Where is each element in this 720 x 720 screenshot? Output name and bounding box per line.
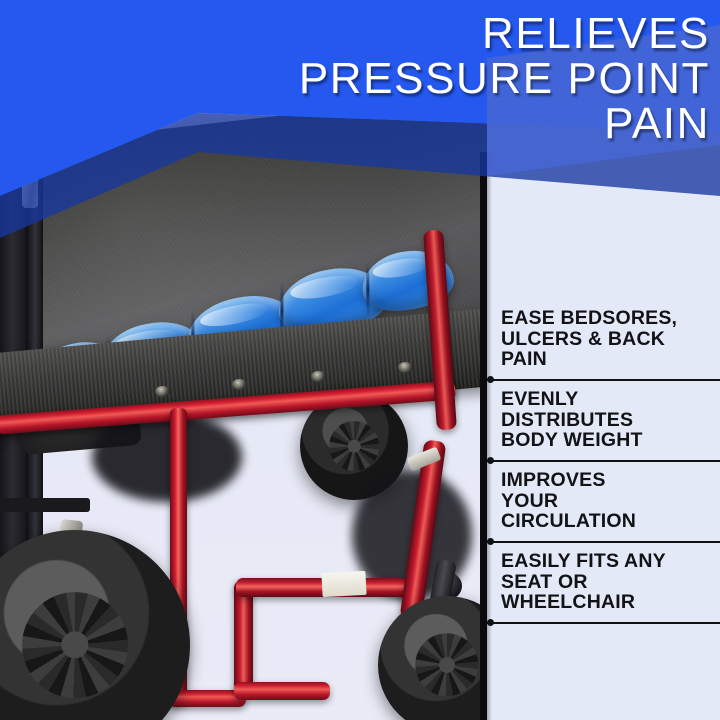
benefit-divider [487, 622, 720, 624]
headline-line-2: PRESSURE POINT [190, 57, 710, 102]
benefit-item-3: IMPROVES YOUR CIRCULATION [487, 462, 720, 541]
benefit-text: EVENLY DISTRIBUTES BODY WEIGHT [501, 381, 710, 460]
benefit-text: IMPROVES YOUR CIRCULATION [501, 462, 710, 541]
benefit-text: EASE BEDSORES, ULCERS & BACK PAIN [501, 300, 710, 379]
benefit-item-4: EASILY FITS ANY SEAT OR WHEELCHAIR [487, 543, 720, 622]
page-title: RELIEVES PRESSURE POINT PAIN [190, 12, 710, 147]
headline-line-1: RELIEVES [190, 12, 710, 57]
benefit-divider [487, 541, 720, 543]
frame-hook-bottom [234, 682, 330, 700]
frame-label-tape [321, 571, 366, 597]
seat-rivet [232, 379, 247, 390]
benefit-item-1: EASE BEDSORES, ULCERS & BACK PAIN [487, 300, 720, 379]
product-marketing-image: RELIEVES PRESSURE POINT PAIN EASE BEDSOR… [0, 0, 720, 720]
benefits-list: EASE BEDSORES, ULCERS & BACK PAIN EVENLY… [487, 300, 720, 624]
seat-rivet [311, 371, 326, 382]
benefit-divider [487, 460, 720, 462]
seat-rivet [398, 362, 413, 373]
headline-line-3: PAIN [190, 102, 710, 147]
panel-left-border [480, 152, 487, 720]
benefit-item-2: EVENLY DISTRIBUTES BODY WEIGHT [487, 381, 720, 460]
benefit-divider [487, 379, 720, 381]
footrest-arm [0, 498, 90, 512]
benefit-text: EASILY FITS ANY SEAT OR WHEELCHAIR [501, 543, 710, 622]
cushion-seam [366, 263, 369, 317]
seat-rivet [155, 386, 170, 397]
